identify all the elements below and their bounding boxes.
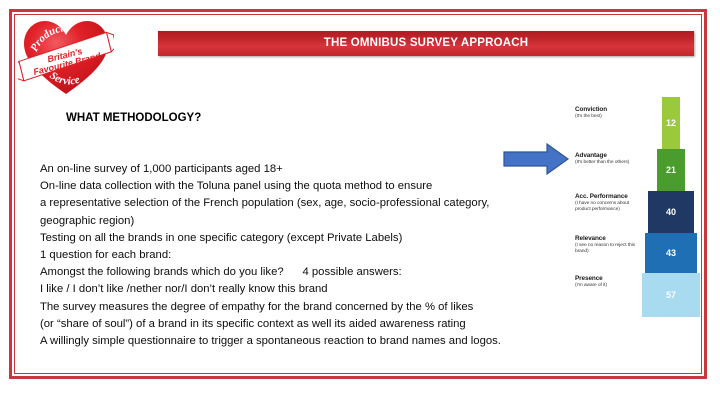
funnel-label-acc-performance: Acc. Performance (I have no concerns abo… — [575, 193, 635, 213]
funnel-bar-acc-performance: 40 — [648, 191, 694, 233]
brand-logo: Product Service Britain's Favourite Bran… — [18, 16, 114, 98]
funnel-label-presence: Presence (I'm aware of it) — [575, 275, 635, 289]
funnel-stage-name: Conviction — [575, 106, 635, 114]
funnel-bar-conviction: 12 — [662, 97, 680, 149]
funnel-stage-name: Acc. Performance — [575, 193, 635, 201]
funnel-label-conviction: Conviction (It's the best) — [575, 106, 635, 120]
body-line: The survey measures the degree of empath… — [40, 299, 560, 316]
funnel-stage-description: (I see no reason to reject this brand) — [575, 243, 635, 255]
funnel-stage-name: Presence — [575, 275, 635, 283]
funnel-label-advantage: Advantage (It's better than the others) — [575, 152, 635, 166]
funnel-stage-presence: Presence (I'm aware of it) 57 — [575, 273, 703, 317]
slide: Product Service Britain's Favourite Bran… — [0, 0, 720, 405]
slide-title-bar: THE OMNIBUS SURVEY APPROACH — [158, 31, 694, 56]
body-line: 1 question for each brand: — [40, 247, 560, 264]
right-arrow-icon — [503, 143, 569, 175]
funnel-stage-description: (It's better than the others) — [575, 160, 635, 166]
funnel-bar-relevance: 43 — [645, 233, 697, 273]
funnel-stage-relevance: Relevance (I see no reason to reject thi… — [575, 233, 703, 273]
slide-title: THE OMNIBUS SURVEY APPROACH — [158, 31, 694, 56]
funnel-value-presence: 57 — [666, 290, 676, 300]
funnel-stage-conviction: Conviction (It's the best) 12 — [575, 97, 703, 149]
body-line: A willingly simple questionnaire to trig… — [40, 333, 560, 350]
funnel-bar-advantage: 21 — [657, 149, 685, 191]
funnel-value-advantage: 21 — [666, 165, 676, 175]
funnel-bar-presence: 57 — [642, 273, 700, 317]
body-line: I like / I don’t like /nether nor/I don’… — [40, 281, 560, 298]
funnel-value-conviction: 12 — [666, 118, 676, 128]
funnel-label-relevance: Relevance (I see no reason to reject thi… — [575, 235, 635, 255]
page-headline: WHAT METHODOLOGY? — [66, 112, 201, 124]
funnel-stage-description: (It's the best) — [575, 114, 635, 120]
methodology-body: An on-line survey of 1,000 participants … — [40, 161, 560, 350]
funnel-stage-name: Advantage — [575, 152, 635, 160]
body-line: (or “share of soul”) of a brand in its s… — [40, 316, 560, 333]
funnel-value-acc-performance: 40 — [666, 207, 676, 217]
body-line: On-line data collection with the Toluna … — [40, 178, 560, 195]
funnel-stage-advantage: Advantage (It's better than the others) … — [575, 149, 703, 191]
brand-equity-funnel-chart: Conviction (It's the best) 12 Advantage … — [575, 97, 703, 317]
funnel-stage-name: Relevance — [575, 235, 635, 243]
body-line: Testing on all the brands in one specifi… — [40, 230, 560, 247]
body-line: geographic region) — [40, 213, 560, 230]
funnel-stage-description: (I'm aware of it) — [575, 283, 635, 289]
body-line: An on-line survey of 1,000 participants … — [40, 161, 560, 178]
funnel-value-relevance: 43 — [666, 248, 676, 258]
body-line: a representative selection of the French… — [40, 195, 560, 212]
body-line: Amongst the following brands which do yo… — [40, 264, 560, 281]
funnel-stage-acc-performance: Acc. Performance (I have no concerns abo… — [575, 191, 703, 233]
funnel-stage-description: (I have no concerns about product perfor… — [575, 201, 635, 213]
